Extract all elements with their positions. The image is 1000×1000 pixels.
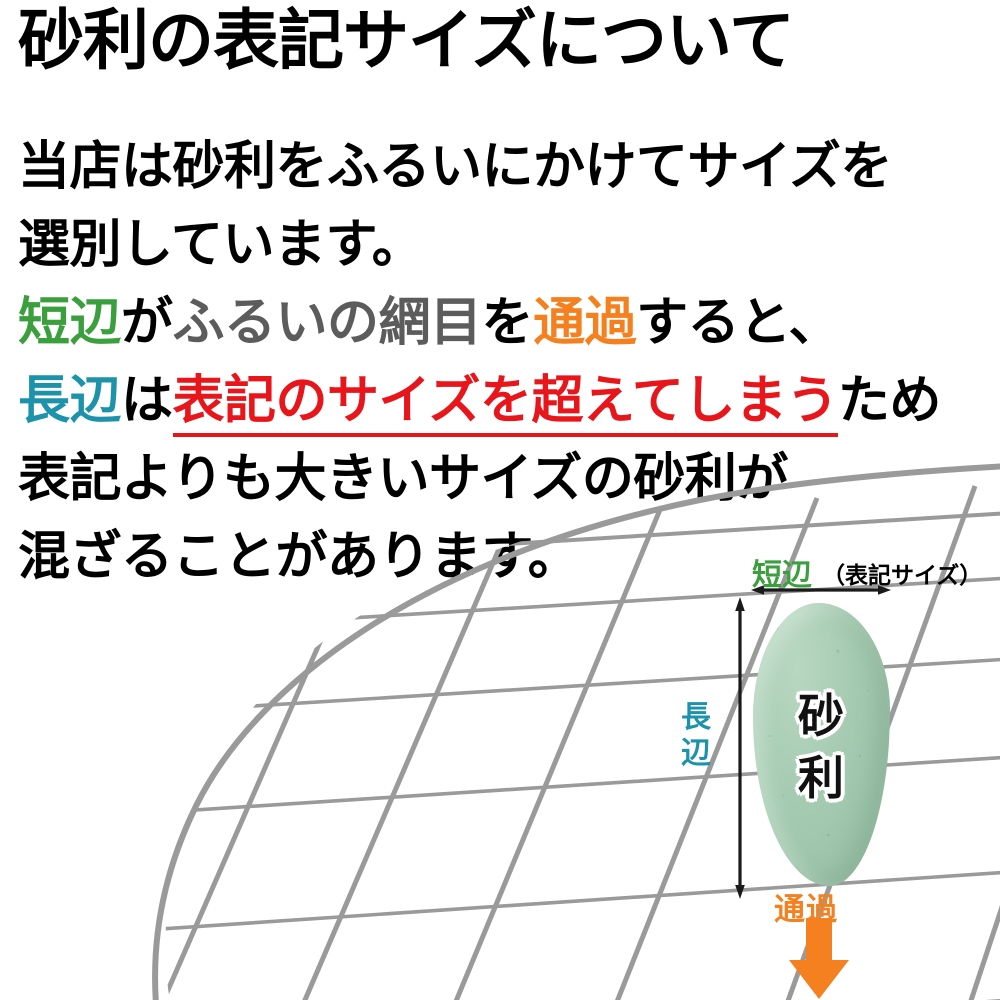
pass-through-arrow xyxy=(789,918,849,999)
long-side-label: 長 辺 xyxy=(679,700,713,772)
gravel-stone-label-char-1: 砂 xyxy=(753,685,890,747)
short-side-label: 短辺 xyxy=(752,550,812,594)
pass-through-label: 通過 xyxy=(774,884,838,929)
body-line-4-segment-tame: ため xyxy=(838,371,941,431)
body-line-4-segment-chohen: 長辺 xyxy=(18,371,121,431)
body-line-3-segment-mesh: ふるいの網目 xyxy=(173,293,482,353)
body-line-5-segment-1: 表記よりも大きいサイズの砂利が xyxy=(18,449,788,509)
body-line-4-segment-emphasis: 表記のサイズを超えてしまう xyxy=(173,371,838,437)
short-side-note: （表記サイズ） xyxy=(822,556,982,590)
gravel-stone-label-char-2: 利 xyxy=(753,747,890,809)
body-line-2: 選別しています。 xyxy=(18,206,993,284)
gravel-stone-label: 砂 利 xyxy=(753,685,890,809)
body-line-3: 短辺がふるいの網目を通過すると、 xyxy=(18,284,993,362)
body-line-3-segment-tanpen: 短辺 xyxy=(18,293,121,353)
body-line-3-segment-wo: を xyxy=(482,293,534,353)
page-title: 砂利の表記サイズについて xyxy=(18,8,983,74)
body-line-3-segment-tsuka: 通過 xyxy=(533,293,636,353)
body-line-2-segment-1: 選別しています。 xyxy=(18,215,423,275)
body-copy: 当店は砂利をふるいにかけてサイズを 選別しています。 短辺がふるいの網目を通過す… xyxy=(18,128,993,596)
infographic-page: 砂利の表記サイズについて 当店は砂利をふるいにかけてサイズを 選別しています。 … xyxy=(0,0,1000,1000)
body-line-3-segment-ga: が xyxy=(121,293,173,353)
body-line-3-segment-suruto: すると、 xyxy=(636,293,840,353)
long-side-dimension xyxy=(735,597,745,899)
body-line-6-segment-1: 混ざることがあります。 xyxy=(18,527,579,587)
body-line-1: 当店は砂利をふるいにかけてサイズを xyxy=(18,128,993,206)
body-line-5: 表記よりも大きいサイズの砂利が xyxy=(18,440,993,518)
body-line-4: 長辺は表記のサイズを超えてしまうため xyxy=(18,362,993,440)
body-line-4-segment-wa: は xyxy=(121,371,173,431)
gravel-stone: 砂 利 xyxy=(753,603,890,886)
long-side-label-char-1: 長 xyxy=(679,700,713,736)
body-line-1-segment-1: 当店は砂利をふるいにかけてサイズを xyxy=(18,137,892,197)
long-side-label-char-2: 辺 xyxy=(679,736,713,772)
